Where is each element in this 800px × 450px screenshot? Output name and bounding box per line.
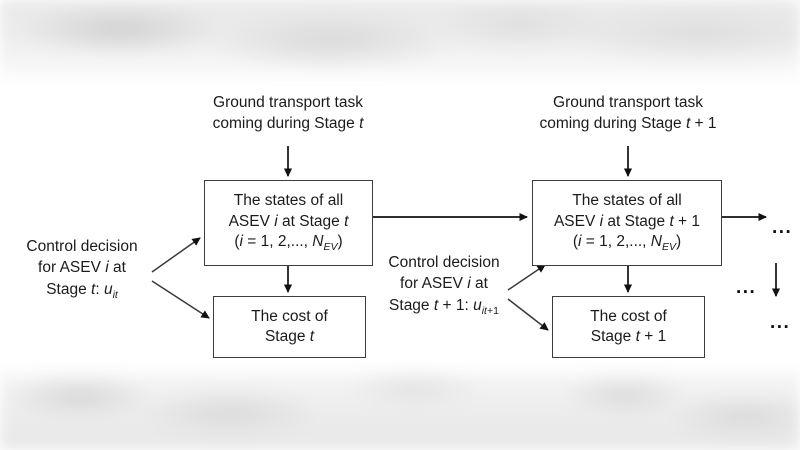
caption-ground-transport-task-stage-t: Ground transport task coming during Stag…: [168, 92, 408, 135]
cost-t-line1: The cost of: [251, 307, 328, 327]
task-t1-line1: Ground transport task: [508, 92, 748, 113]
state-t1-line3: (i = 1, 2,..., NEV): [573, 232, 681, 255]
node-state-stage-t1[interactable]: The states of all ASEV i at Stage t + 1 …: [532, 180, 722, 266]
task-t-line2: coming during Stage t: [168, 113, 408, 134]
control-t1-line3: Stage t + 1: uit+1: [371, 295, 517, 319]
control-t1-line1: Control decision: [371, 252, 517, 273]
cost-t1-line2: Stage t + 1: [591, 327, 666, 347]
state-t-line2: ASEV i at Stage t: [229, 212, 349, 232]
cost-t-line2: Stage t: [265, 327, 314, 347]
task-t-line1: Ground transport task: [168, 92, 408, 113]
node-cost-stage-t[interactable]: The cost of Stage t: [213, 296, 366, 358]
control-t-line1: Control decision: [6, 236, 158, 257]
control-t1-line2: for ASEV i at: [371, 273, 517, 294]
ellipsis-mid: ...: [736, 278, 756, 297]
caption-ground-transport-task-stage-t1: Ground transport task coming during Stag…: [508, 92, 748, 135]
ellipsis-bottom: ...: [770, 313, 790, 332]
ellipsis-right-top: ...: [772, 218, 792, 237]
diagram-canvas: Ground transport task coming during Stag…: [0, 0, 800, 450]
caption-control-decision-stage-t1: Control decision for ASEV i at Stage t +…: [371, 252, 517, 318]
arrow-control-t-to-cost-t: [152, 281, 209, 318]
arrow-control-t-to-state-t: [152, 238, 200, 272]
task-t1-line2: coming during Stage t + 1: [508, 113, 748, 134]
state-t1-line2: ASEV i at Stage t + 1: [554, 212, 700, 232]
node-state-stage-t[interactable]: The states of all ASEV i at Stage t (i =…: [204, 180, 373, 266]
caption-control-decision-stage-t: Control decision for ASEV i at Stage t: …: [6, 236, 158, 302]
state-t-line3: (i = 1, 2,..., NEV): [234, 232, 342, 255]
control-t-line2: for ASEV i at: [6, 257, 158, 278]
node-cost-stage-t1[interactable]: The cost of Stage t + 1: [552, 296, 705, 358]
state-t1-line1: The states of all: [572, 191, 681, 211]
control-t-line3: Stage t: uit: [6, 279, 158, 303]
cost-t1-line1: The cost of: [590, 307, 667, 327]
state-t-line1: The states of all: [234, 191, 343, 211]
